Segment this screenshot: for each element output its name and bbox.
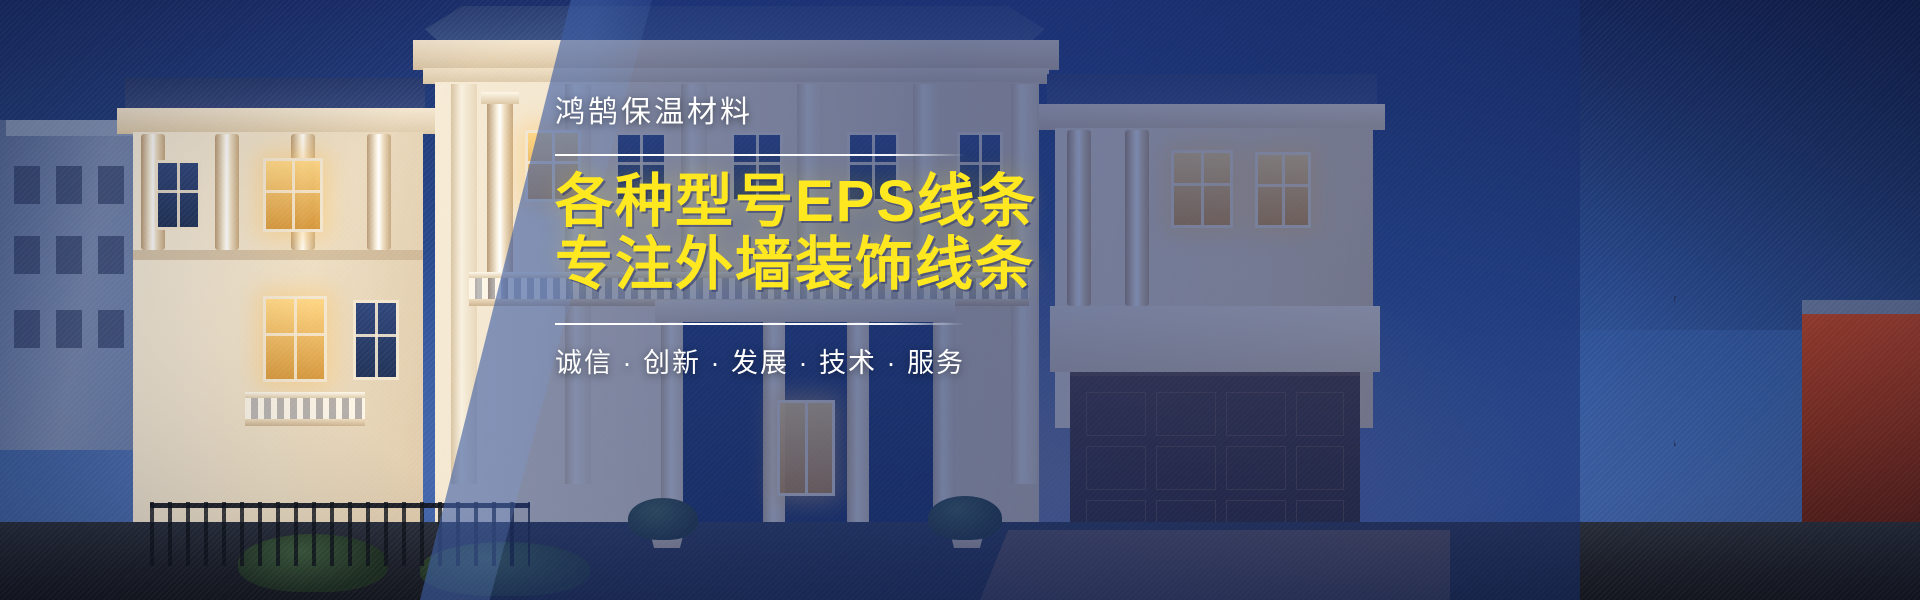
shrub bbox=[628, 498, 698, 540]
driveway bbox=[980, 530, 1450, 600]
tree-branches bbox=[1674, 296, 1824, 446]
entry-door-lit bbox=[777, 400, 835, 496]
balustrade bbox=[245, 392, 365, 426]
window-lit bbox=[263, 296, 327, 382]
column bbox=[487, 100, 513, 300]
left-wing-band bbox=[133, 250, 423, 260]
headline-line-1: 各种型号EPS线条 bbox=[555, 169, 1037, 234]
banner-copy-block: 鸿鹄保温材料 各种型号EPS线条 专注外墙装饰线条 诚信 · 创新 · 发展 ·… bbox=[555, 94, 1455, 380]
window-dark bbox=[353, 300, 399, 380]
promo-banner: 鸿鹄保温材料 各种型号EPS线条 专注外墙装饰线条 诚信 · 创新 · 发展 ·… bbox=[0, 0, 1920, 600]
column-capital bbox=[481, 92, 519, 104]
iron-fence bbox=[150, 502, 530, 566]
shrub bbox=[928, 496, 1002, 540]
divider-bottom bbox=[555, 323, 965, 325]
column bbox=[367, 134, 391, 250]
window-lit bbox=[263, 158, 323, 232]
headline-line-2: 专注外墙装饰线条 bbox=[555, 233, 1455, 297]
center-cornice bbox=[413, 40, 1059, 70]
tagline: 诚信 · 创新 · 发展 · 技术 · 服务 bbox=[555, 341, 1455, 380]
brand-name: 鸿鹄保温材料 bbox=[555, 94, 1455, 132]
left-wing-cornice bbox=[117, 108, 435, 134]
headline: 各种型号EPS线条 专注外墙装饰线条 bbox=[555, 170, 1455, 298]
left-wing-roof bbox=[125, 78, 425, 112]
window-dark bbox=[155, 160, 201, 230]
column bbox=[215, 134, 239, 250]
divider-top bbox=[555, 154, 965, 156]
